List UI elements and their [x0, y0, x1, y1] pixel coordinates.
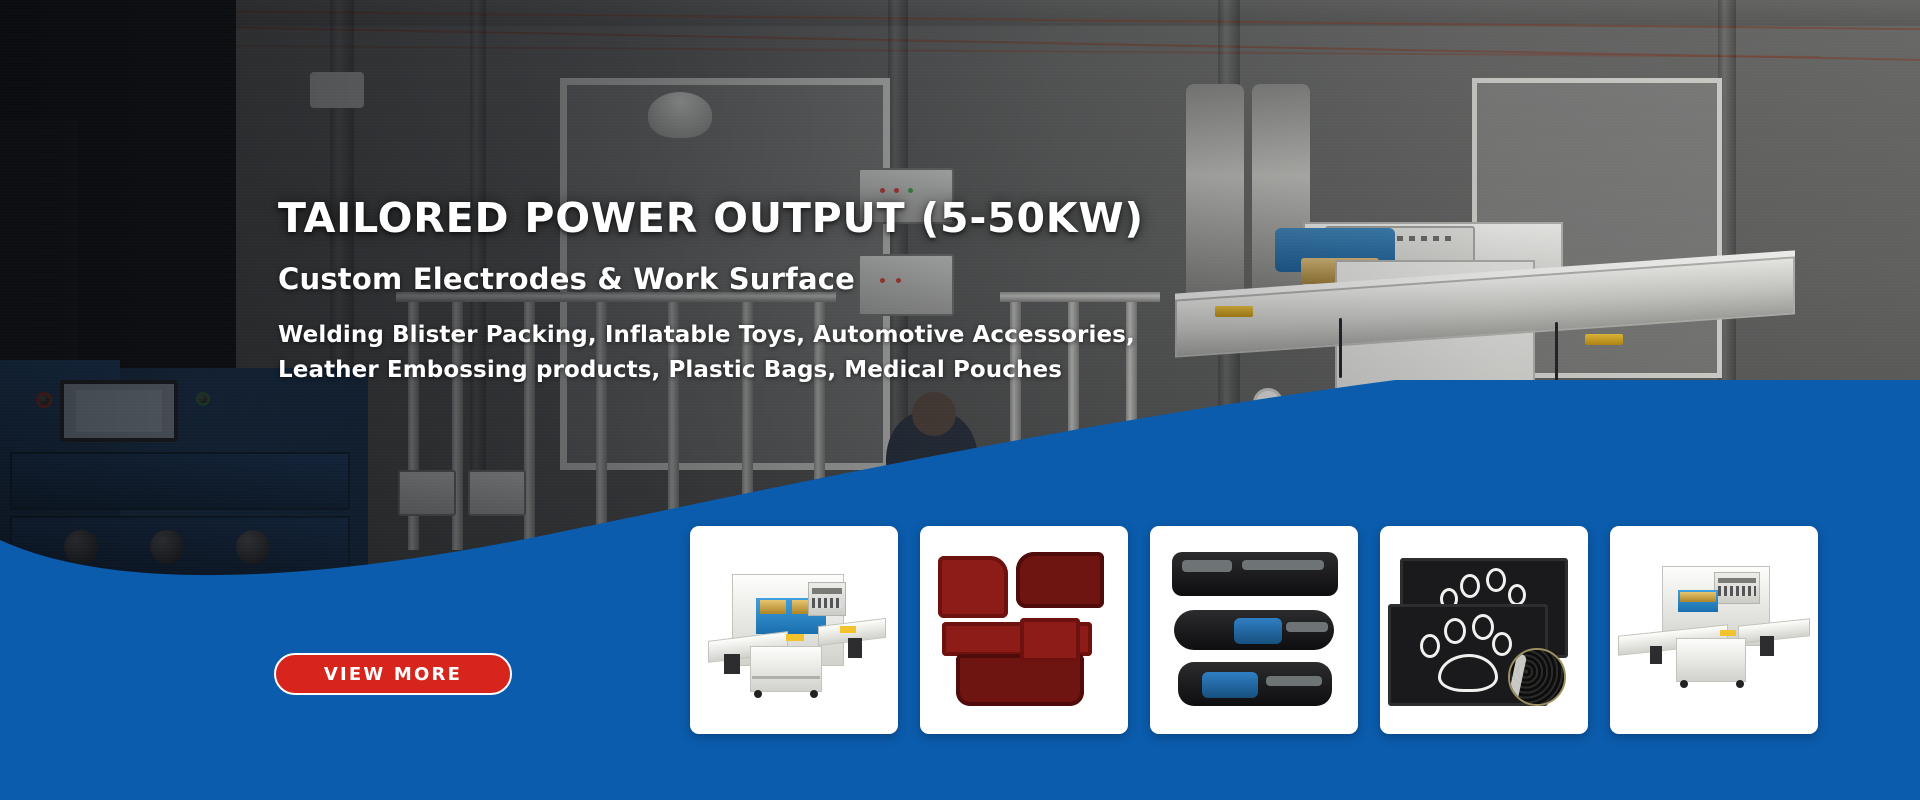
thumbnail-car-floor-mats[interactable]	[920, 526, 1128, 734]
thumbnail-image-car-floor-mats	[920, 526, 1128, 734]
thumbnail-image-waist-support-belts	[1150, 526, 1358, 734]
thumbnail-image-welding-machine	[690, 526, 898, 734]
thumbnail-welding-machine[interactable]	[690, 526, 898, 734]
description-line-2: Leather Embossing products, Plastic Bags…	[278, 353, 1178, 388]
subtitle: Custom Electrodes & Work Surface	[278, 262, 1178, 296]
description-line-1: Welding Blister Packing, Inflatable Toys…	[278, 318, 1178, 353]
view-more-button[interactable]: VIEW MORE	[274, 653, 512, 695]
page-title-text: TAILORED POWER OUTPUT (5-50KW)	[278, 194, 1144, 242]
description-block: Welding Blister Packing, Inflatable Toys…	[278, 318, 1178, 388]
hero-copy-block: TAILORED POWER OUTPUT (5-50KW) Custom El…	[278, 196, 1178, 388]
page-title: TAILORED POWER OUTPUT (5-50KW)	[278, 196, 1144, 240]
thumbnail-pet-paw-mats[interactable]	[1380, 526, 1588, 734]
thumbnail-waist-support-belts[interactable]	[1150, 526, 1358, 734]
thumbnail-image-welding-machine-side	[1610, 526, 1818, 734]
product-thumbnail-strip	[690, 526, 1818, 734]
material-closeup-circle	[1508, 648, 1566, 706]
hero-banner: TAILORED POWER OUTPUT (5-50KW) Custom El…	[0, 0, 1920, 800]
thumbnail-welding-machine-side[interactable]	[1610, 526, 1818, 734]
thumbnail-image-pet-paw-mats	[1380, 526, 1588, 734]
